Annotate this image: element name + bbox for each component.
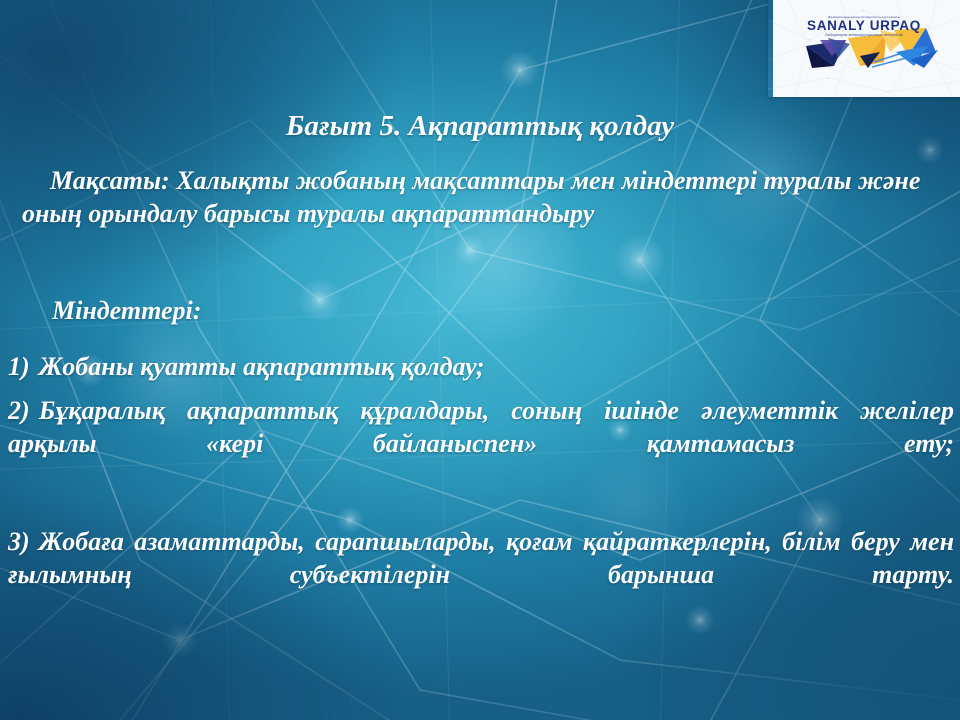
task-number: 2) — [8, 396, 30, 425]
tasks-heading: Міндеттері: — [22, 294, 928, 327]
task-text: Жобаны қуатты ақпараттық қолдау; — [39, 352, 485, 381]
presentation-slide: Бағыт 5. Ақпараттық қолдау Мақсаты: Халы… — [0, 0, 960, 720]
goal-paragraph: Мақсаты: Халықты жобаның мақсаттары мен … — [22, 164, 928, 231]
sanaly-urpaq-emblem-icon — [768, 0, 960, 97]
task-list-item: 3)Жобаға азаматтарды, сарапшыларды, қоға… — [8, 525, 954, 625]
slide-content: Бағыт 5. Ақпараттық қолдау Мақсаты: Халы… — [0, 0, 960, 720]
task-text: Жобаға азаматтарды, сарапшыларды, қоғам … — [8, 527, 954, 589]
task-list-item: 2)Бұқаралық ақпараттық құралдары, соның … — [8, 394, 954, 494]
slide-title: Бағыт 5. Ақпараттық қолдау — [60, 108, 900, 145]
task-list-item: 1)Жобаны қуатты ақпараттық қолдау; — [8, 350, 954, 383]
sanaly-urpaq-logo-panel: Жемқорлыққа қарсы білімділіктің зертхана… — [768, 0, 960, 97]
task-text: Бұқаралық ақпараттық құралдары, соның іш… — [8, 396, 954, 458]
task-number: 3) — [8, 527, 30, 556]
task-number: 1) — [8, 352, 30, 381]
